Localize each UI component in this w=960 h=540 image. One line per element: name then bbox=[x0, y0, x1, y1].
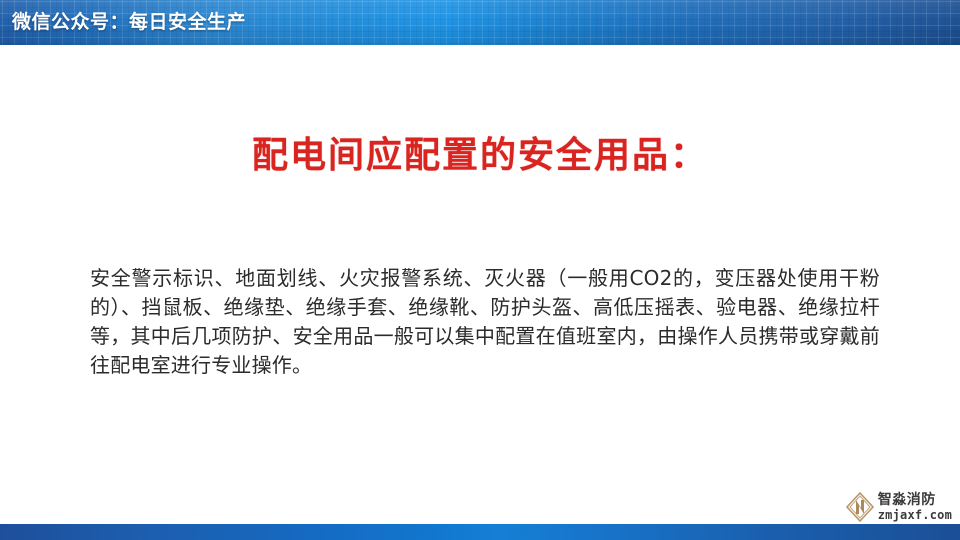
slide-body-paragraph: 安全警示标识、地面划线、火灾报警系统、灭火器（一般用CO2的，变压器处使用干粉的… bbox=[90, 264, 880, 380]
slide-canvas: 微信公众号：每日安全生产 配电间应配置的安全用品： 安全警示标识、地面划线、火灾… bbox=[0, 0, 960, 540]
watermark-text-block: 智淼消防 zmjaxf.com bbox=[878, 493, 952, 521]
bottom-bar bbox=[0, 524, 960, 540]
diamond-shield-icon bbox=[846, 492, 874, 522]
top-banner: 微信公众号：每日安全生产 bbox=[0, 0, 960, 45]
watermark-url: zmjaxf.com bbox=[878, 509, 952, 521]
watermark-logo: 智淼消防 zmjaxf.com bbox=[846, 492, 952, 522]
watermark-brand-name: 智淼消防 bbox=[878, 493, 952, 507]
banner-title: 微信公众号：每日安全生产 bbox=[12, 0, 246, 45]
slide-heading: 配电间应配置的安全用品： bbox=[0, 126, 960, 178]
